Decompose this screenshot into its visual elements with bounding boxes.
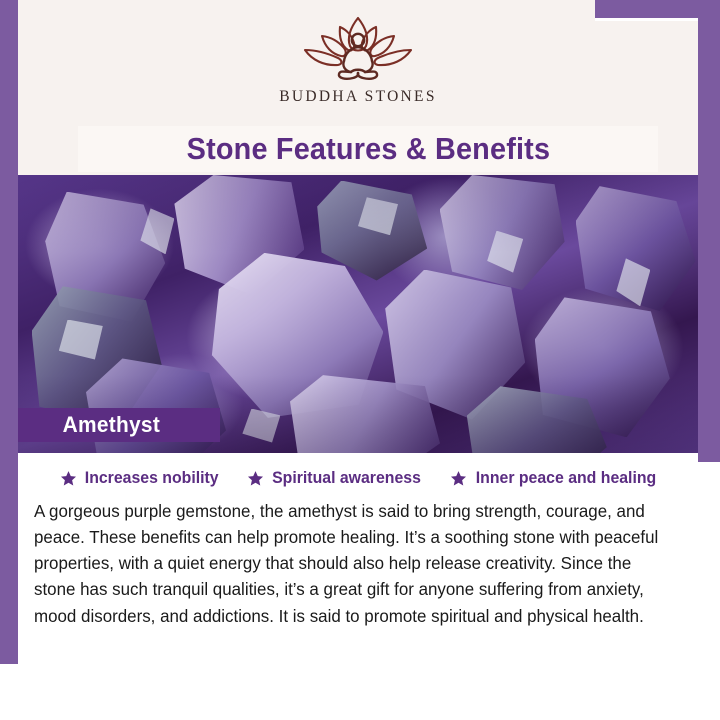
frame-border-left — [0, 0, 18, 664]
header-section: BUDDHA STONES Stone Features & Benefits — [18, 0, 698, 175]
brand-logo: BUDDHA STONES — [18, 14, 698, 106]
content-card: Increases nobility Spiritual awareness I… — [22, 453, 698, 664]
description-text: A gorgeous purple gemstone, the amethyst… — [34, 498, 676, 629]
frame-border-right — [698, 0, 720, 462]
frame-border-top — [595, 0, 720, 18]
stone-name-label: Amethyst — [63, 412, 161, 438]
benefit-label: Increases nobility — [85, 469, 219, 488]
brand-name: BUDDHA STONES — [279, 88, 437, 106]
benefit-item: Inner peace and healing — [450, 469, 660, 488]
benefits-list: Increases nobility Spiritual awareness I… — [22, 453, 698, 490]
bottom-strip — [0, 664, 720, 720]
frame-hairline — [595, 18, 698, 21]
star-icon — [60, 470, 77, 487]
star-icon — [450, 470, 467, 487]
benefit-label: Inner peace and healing — [476, 469, 656, 488]
title-band: Stone Features & Benefits — [78, 126, 658, 172]
product-infographic: BUDDHA STONES Stone Features & Benefits — [0, 0, 720, 720]
stone-name-banner: Amethyst — [18, 408, 220, 442]
benefit-item: Spiritual awareness — [247, 469, 424, 488]
benefit-item: Increases nobility — [60, 469, 221, 488]
benefit-label: Spiritual awareness — [272, 469, 421, 488]
page-title: Stone Features & Benefits — [186, 131, 550, 167]
star-icon — [247, 470, 264, 487]
lotus-meditation-icon — [283, 14, 433, 84]
